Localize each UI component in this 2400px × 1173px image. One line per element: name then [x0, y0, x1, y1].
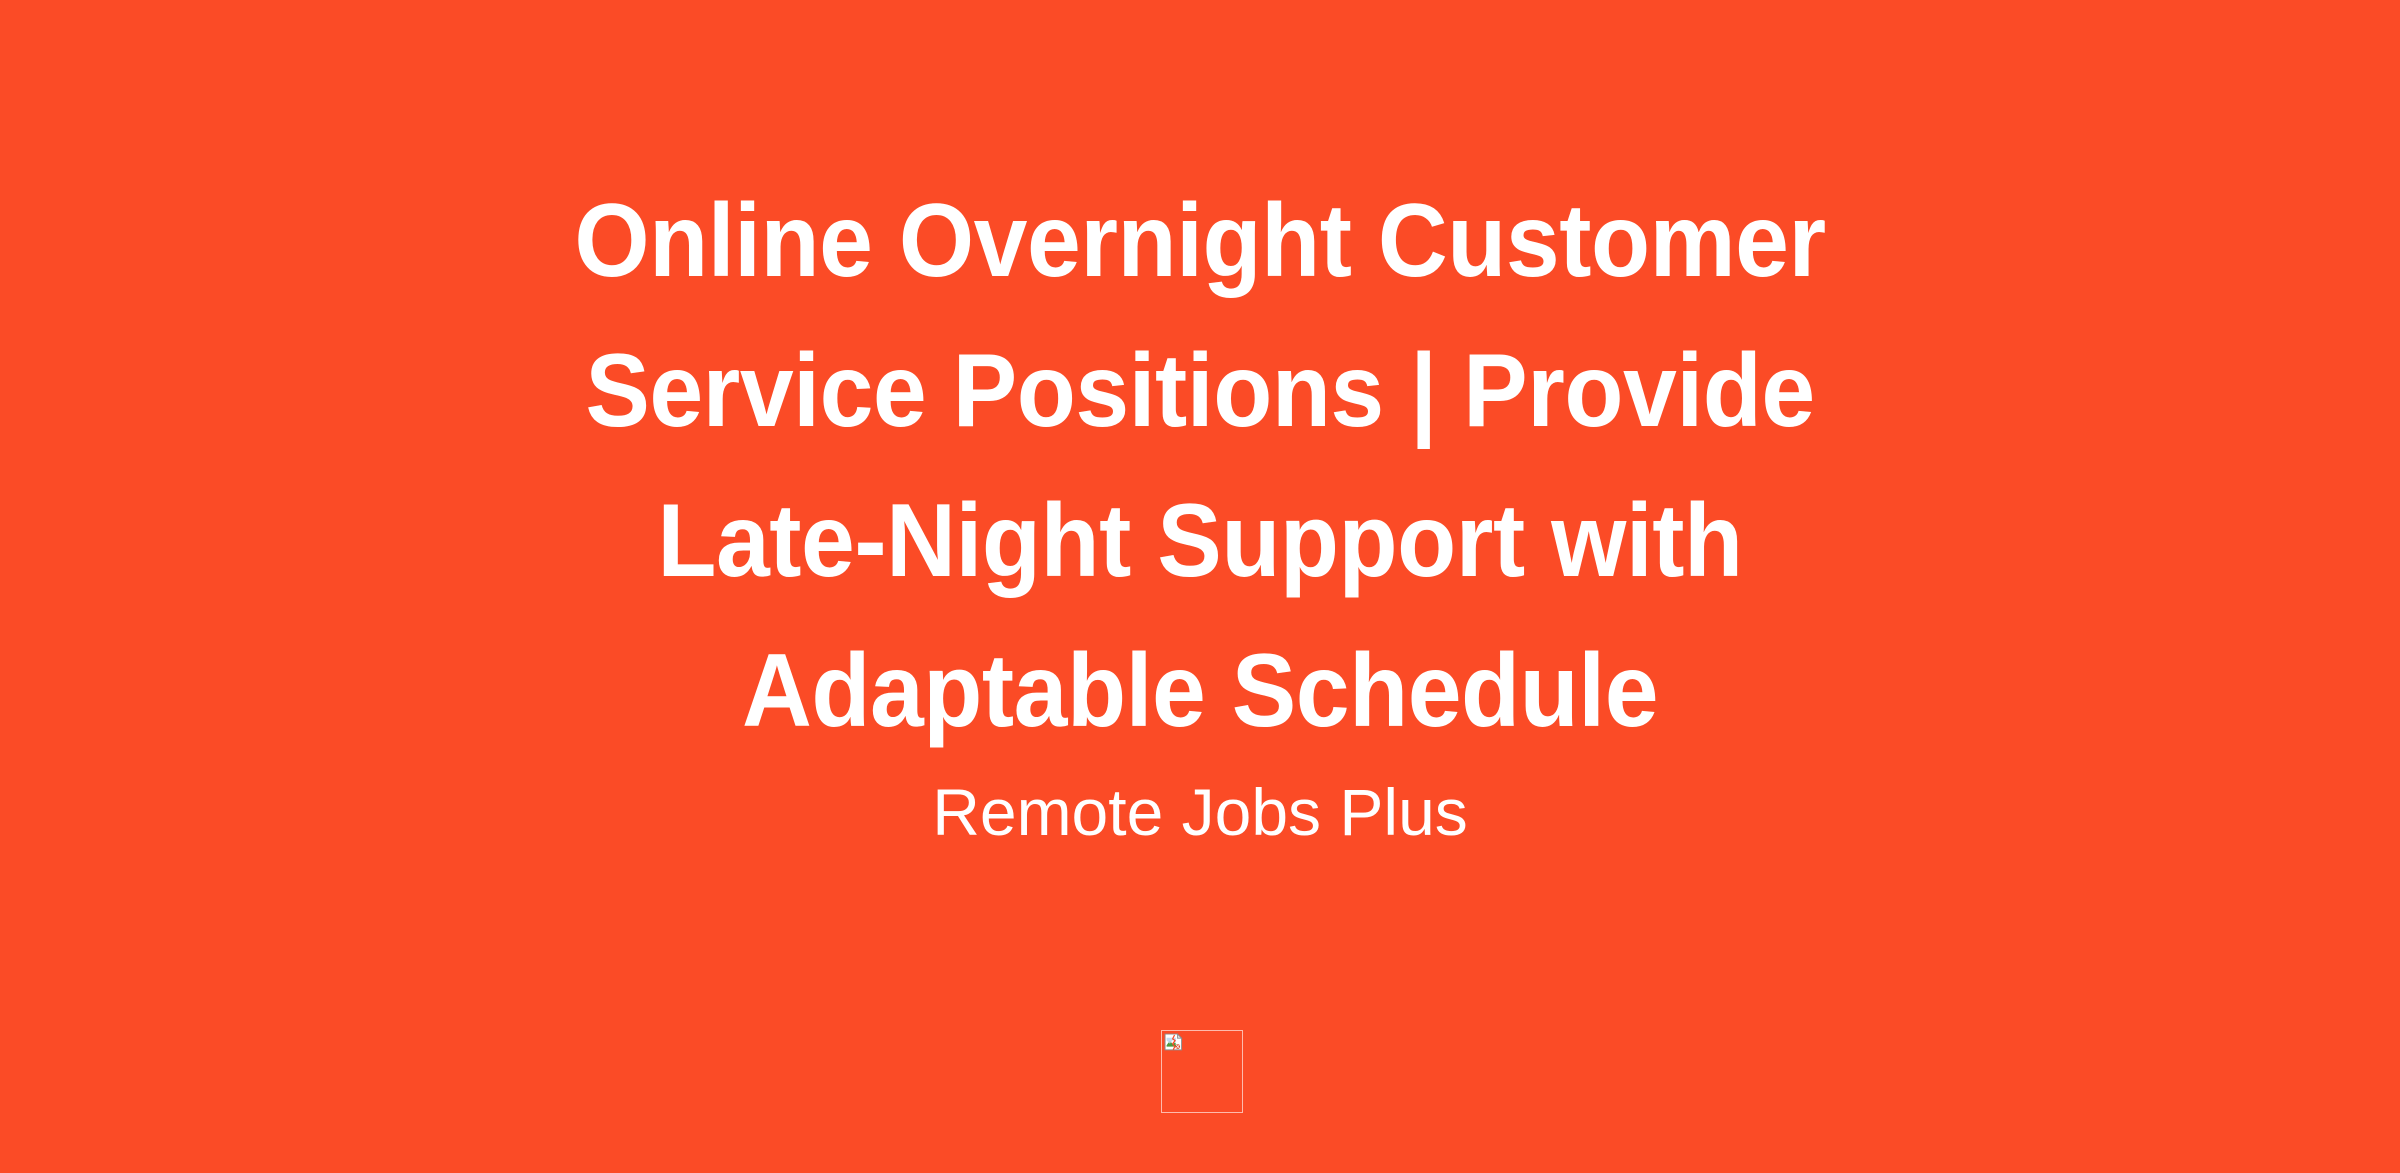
share-card: Online Overnight Customer Service Positi… — [0, 0, 2400, 1173]
site-name: Remote Jobs Plus — [300, 772, 2100, 852]
broken-image-placeholder[interactable] — [1161, 1030, 1243, 1113]
page-title-text: Online Overnight Customer Service Positi… — [475, 166, 1926, 766]
broken-image-icon — [1163, 1032, 1185, 1054]
page-title: Online Overnight Customer Service Positi… — [420, 166, 1980, 766]
